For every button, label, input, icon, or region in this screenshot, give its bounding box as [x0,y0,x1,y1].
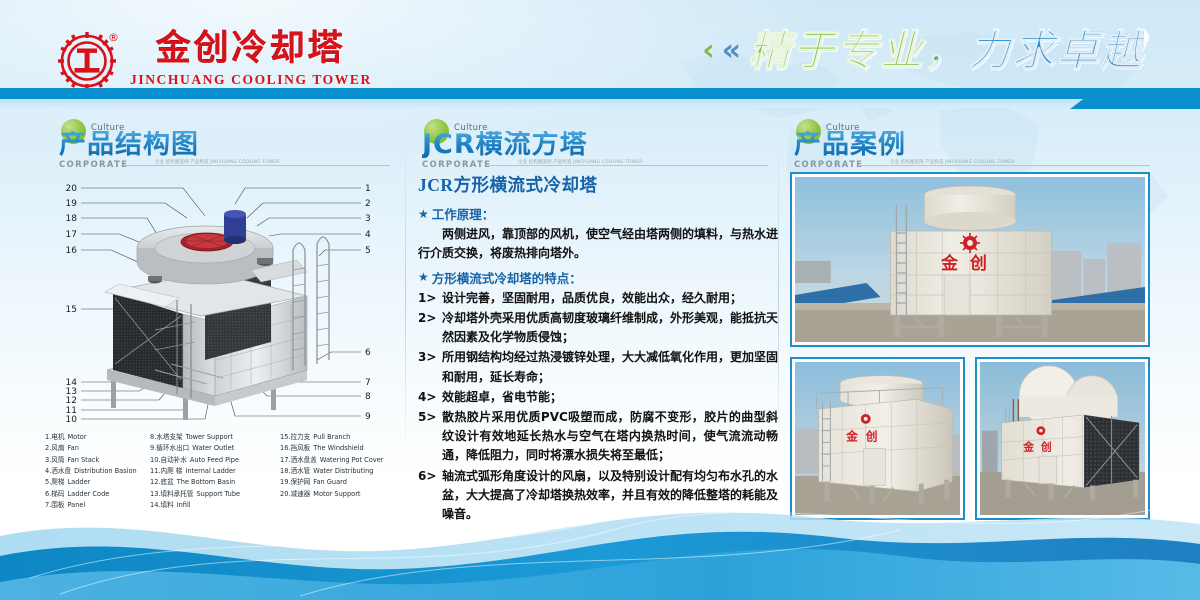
brand-name-en: JINCHUANG COOLING TOWER [130,72,372,88]
chevron-left-icon: ‹ [702,36,714,66]
svg-text:8: 8 [365,392,371,402]
photo-brand-text: 金创 [940,253,999,273]
legend-item: 1.电机Motor [45,432,150,443]
section-rule [488,165,768,166]
svg-text:18: 18 [66,214,78,224]
section-title: 产品案例 [794,131,906,158]
photo-cooling-tower-rooftop-main[interactable]: 金创 [790,172,1150,347]
registered-mark: ® [108,31,119,44]
column-divider-1 [405,130,406,460]
svg-text:9: 9 [365,412,371,422]
svg-text:20: 20 [66,184,78,194]
svg-text:19: 19 [66,199,78,209]
legend-item: 18.洒水管Water Distributing [280,466,405,477]
legend-item: 5.爬梯Ladder [45,477,150,488]
gear-logo-icon: ® [58,28,120,90]
legend-item: 17.洒水盘盖Watering Pot Cover [280,455,405,466]
legend-item: 16.挡风板The Windshield [280,443,405,454]
feature-item: 3> 所用钢结构均经过热浸镀锌处理，大大减低氧化作用，更加坚固和耐用，延长寿命； [418,348,778,386]
legend-item: 15.拉力支Pull Branch [280,432,405,443]
legend-item: 8.水塔支架Tower Support [150,432,280,443]
svg-text:4: 4 [365,230,371,240]
slogan-text: 精于专业，力求卓越 [748,30,1144,72]
feature-item: 2> 冷却塔外壳采用优质高韧度玻璃纤维制成，外形美观，能抵抗天然因素及化学物质侵… [418,309,778,347]
column-divider-2 [778,130,779,460]
photo-brand-text: 金创 [845,429,885,443]
section-rule [860,165,1150,166]
star-icon: ★ [418,271,429,283]
cooling-tower-structure-diagram: 20 19 18 17 16 15 14 13 12 11 10 1 2 3 4… [55,174,400,424]
legend-item: 4.洒水盘Distribution Basion [45,466,150,477]
features-heading: ★ 方形横流式冷却塔的特点： [418,268,778,287]
section-product-structure: Culture 产品结构图 CORPORATE 企业 结构图案例 产品构造 JI… [55,118,400,424]
legend-item: 10.自动补水Auto Feed Pipe [150,455,280,466]
legend-item: 12.底盆The Bottom Basin [150,477,280,488]
svg-text:16: 16 [66,246,78,256]
feature-item: 5> 散热胶片采用优质PVC吸塑而成，防腐不变形，胶片的曲型斜纹设计有效地延长热… [418,408,778,466]
legend-item: 3.风筒Fan Stack [45,455,150,466]
header-accent-bar-light [0,99,1200,108]
brand-name-cn: 金创冷却塔 [156,30,346,69]
section-product-description: Culture JCR横流方塔 CORPORATE 企业 结构图案例 产品构造 … [418,118,778,525]
corporate-label: CORPORATE [794,160,863,170]
svg-text:17: 17 [66,230,77,240]
legend-item: 2.风扇Fan [45,443,150,454]
corporate-label: CORPORATE [422,160,491,170]
svg-text:15: 15 [66,305,77,315]
brand-logo[interactable]: ® 金创冷却塔 JINCHUANG COOLING TOWER [58,28,372,90]
svg-text:12: 12 [66,396,77,406]
svg-text:5: 5 [365,246,371,256]
feature-item: 1> 设计完善，坚固耐用，品质优良，效能出众，经久耐用； [418,289,778,308]
section-microtext: 企业 结构图案例 产品构造 JINCHUANG COOLING TOWER [890,159,1090,165]
legend-item: 9.循环水出口Water Outlet [150,443,280,454]
section-header-product: Culture JCR横流方塔 CORPORATE 企业 结构图案例 产品构造 … [418,118,778,168]
bottom-wave-decoration [0,490,1200,600]
corporate-label: CORPORATE [59,160,128,170]
legend-item: 11.内爬 梯Internal Ladder [150,466,280,477]
page-header: ® 金创冷却塔 JINCHUANG COOLING TOWER ‹ « 精于专业… [0,0,1200,108]
legend-item: 19.保护网Fan Guard [280,477,405,488]
section-header-cases: Culture 产品案例 CORPORATE 企业 结构图案例 产品构造 JIN… [790,118,1160,168]
svg-text:2: 2 [365,199,371,209]
svg-text:3: 3 [365,214,371,224]
principle-text: 两侧进风，靠顶部的风机，使空气经由塔两侧的填料，与热水进行介质交换，将废热排向塔… [418,225,778,264]
photo-brand-text: 金创 [1022,440,1058,453]
product-title: JCR方形横流式冷却塔 [418,172,778,197]
star-icon: ★ [418,208,429,220]
section-header-structure: Culture 产品结构图 CORPORATE 企业 结构图案例 产品构造 JI… [55,118,400,168]
chevron-double-left-icon: « [722,36,741,66]
header-accent-bar [0,88,1200,99]
section-microtext: 企业 结构图案例 产品构造 JINCHUANG COOLING TOWER [518,159,718,165]
section-title: JCR横流方塔 [422,131,588,158]
svg-text:6: 6 [365,348,371,358]
feature-item: 4> 效能超卓，省电节能； [418,388,778,407]
section-rule [125,165,390,166]
section-title: 产品结构图 [59,131,199,158]
slogan-block: ‹ « 精于专业，力求卓越 [702,30,1144,72]
svg-text:1: 1 [365,184,371,194]
svg-text:7: 7 [365,378,371,388]
svg-text:10: 10 [66,415,78,424]
section-product-cases: Culture 产品案例 CORPORATE 企业 结构图案例 产品构造 JIN… [790,118,1160,520]
section-microtext: 企业 结构图案例 产品构造 JINCHUANG COOLING TOWER [155,159,355,165]
principle-heading: ★ 工作原理： [418,204,778,223]
